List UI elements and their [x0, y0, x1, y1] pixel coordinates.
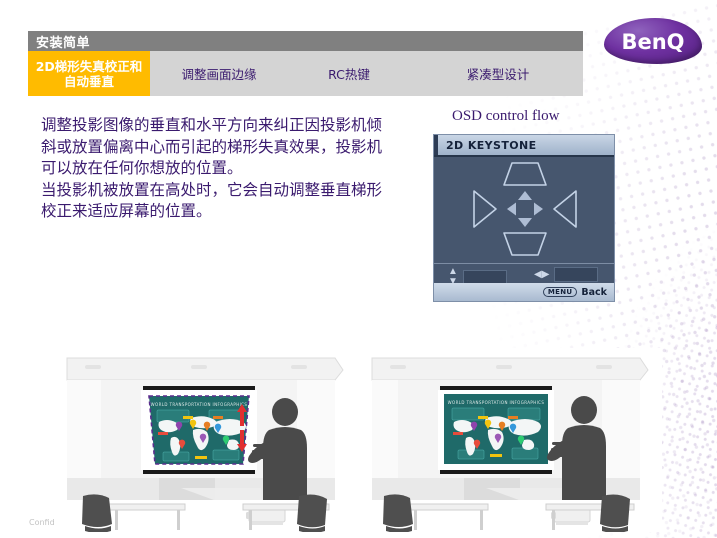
- osd-horizontal-value-field[interactable]: [554, 267, 598, 282]
- tab-2d-keystone-line1: 2D梯形失真校正和: [36, 59, 143, 74]
- section-title: 安装简单: [36, 32, 90, 51]
- left-right-arrow-icon: ◀▶: [534, 270, 549, 280]
- tab-rc-hotkey[interactable]: RC热键: [300, 51, 398, 96]
- osd-window-title: 2D KEYSTONE: [446, 139, 537, 152]
- photo-keystone-distorted: WORLD TRANSPORTATION INFOGRAPHICS: [63, 348, 357, 532]
- benq-logo: BenQ: [604, 18, 702, 64]
- footer-confidential-note: Confid: [29, 518, 55, 527]
- photo-keystone-corrected: WORLD TRANSPORTATION INFOGRAPHICS: [368, 348, 662, 532]
- osd-caption: OSD control flow: [452, 108, 560, 125]
- body-paragraph-2: 当投影机被放置在高处时，它会自动调整垂直梯形校正来适应屏幕的位置。: [41, 180, 386, 223]
- slide-canvas: BenQ 安装简单 2D梯形失真校正和 自动垂直 调整画面边缘 RC热键 紧凑型…: [0, 0, 717, 538]
- tab-strip: 2D梯形失真校正和 自动垂直 调整画面边缘 RC热键 紧凑型设计: [28, 51, 583, 96]
- tab-2d-keystone[interactable]: 2D梯形失真校正和 自动垂直: [28, 51, 150, 96]
- tab-screen-edge-adjust[interactable]: 调整画面边缘: [159, 51, 279, 96]
- benq-logo-wordmark: BenQ: [604, 19, 702, 65]
- osd-titlebar: 2D KEYSTONE: [434, 135, 614, 157]
- meeting-room-corrected-illustration: WORLD TRANSPORTATION INFOGRAPHICS: [368, 348, 662, 532]
- osd-horizontal-value-row: ◀▶: [534, 267, 598, 282]
- tab-compact-design[interactable]: 紧凑型设计: [438, 51, 558, 96]
- osd-footer: MENU Back: [434, 283, 614, 301]
- svg-text:WORLD TRANSPORTATION INFOGRAPH: WORLD TRANSPORTATION INFOGRAPHICS: [448, 400, 545, 405]
- tab-2d-keystone-line2: 自动垂直: [64, 74, 114, 89]
- keystone-control-icon: [434, 155, 616, 263]
- body-paragraph-1: 调整投影图像的垂直和水平方向来纠正因投影机倾斜或放置偏离中心而引起的梯形失真效果…: [41, 115, 386, 180]
- meeting-room-distorted-illustration: WORLD TRANSPORTATION INFOGRAPHICS: [63, 348, 357, 532]
- svg-text:WORLD TRANSPORTATION INFOGRAPH: WORLD TRANSPORTATION INFOGRAPHICS: [151, 402, 248, 407]
- osd-menu-key-badge[interactable]: MENU: [543, 287, 578, 297]
- body-text-block: 调整投影图像的垂直和水平方向来纠正因投影机倾斜或放置偏离中心而引起的梯形失真效果…: [41, 115, 386, 223]
- osd-titlebar-accent: [434, 135, 438, 155]
- osd-back-label: Back: [581, 287, 607, 298]
- section-title-bar: 安装简单: [28, 31, 583, 51]
- osd-panel: 2D KEYSTONE: [433, 134, 615, 302]
- osd-keystone-diagram: [434, 155, 614, 263]
